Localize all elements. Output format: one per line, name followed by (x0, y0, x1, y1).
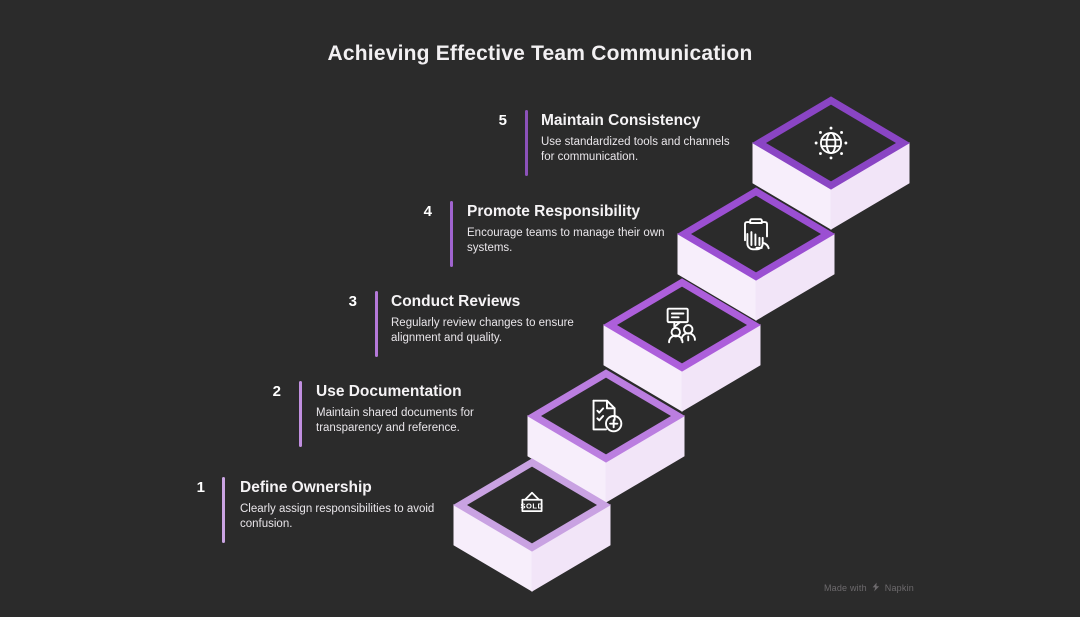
watermark-label: Made with (824, 583, 867, 593)
step-description-3: Regularly review changes to ensure align… (391, 316, 596, 345)
step-heading-4: Promote Responsibility (467, 203, 640, 221)
step-number-1: 1 (175, 479, 205, 496)
step-description-2: Maintain shared documents for transparen… (316, 406, 516, 435)
watermark-brand: Napkin (885, 583, 914, 593)
step-description-5: Use standardized tools and channels for … (541, 135, 736, 164)
step-number-5: 5 (477, 112, 507, 129)
step-accent-bar-2 (299, 381, 302, 447)
step-heading-5: Maintain Consistency (541, 112, 700, 130)
step-heading-1: Define Ownership (240, 479, 372, 497)
step-accent-bar-5 (525, 110, 528, 176)
sold-sign-icon: SOLD (502, 475, 562, 535)
step-accent-bar-4 (450, 201, 453, 267)
svg-text:SOLD: SOLD (521, 502, 544, 511)
step-description-4: Encourage teams to manage their own syst… (467, 226, 667, 255)
step-accent-bar-1 (222, 477, 225, 543)
step-number-4: 4 (402, 203, 432, 220)
step-accent-bar-3 (375, 291, 378, 357)
step-description-1: Clearly assign responsibilities to avoid… (240, 502, 440, 531)
page-title: Achieving Effective Team Communication (0, 42, 1080, 66)
step-heading-2: Use Documentation (316, 383, 462, 401)
napkin-bolt-icon (871, 582, 881, 594)
step-heading-3: Conduct Reviews (391, 293, 520, 311)
infographic-canvas: Achieving Effective Team Communication (0, 0, 1080, 608)
napkin-watermark: Made with Napkin (824, 582, 914, 594)
step-number-3: 3 (327, 293, 357, 310)
step-number-2: 2 (251, 383, 281, 400)
